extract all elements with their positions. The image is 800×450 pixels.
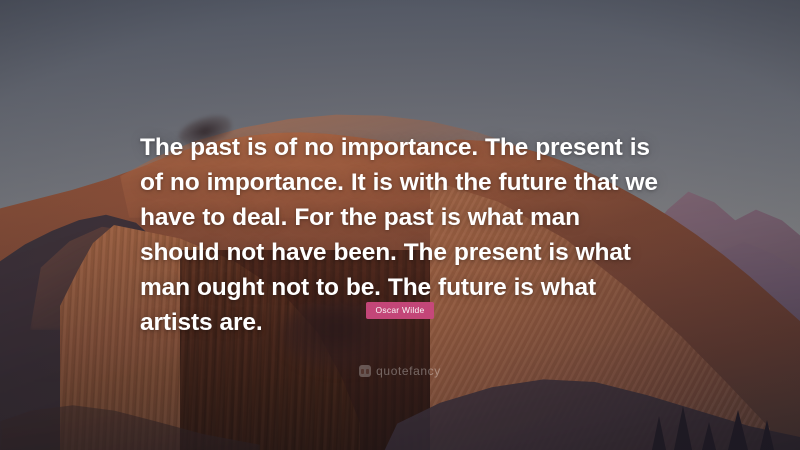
tree-icon [728,410,748,450]
watermark-brand-label: quotefancy [376,365,441,377]
tree-icon [760,420,774,450]
author-name-badge[interactable]: Oscar Wilde [366,302,433,319]
tree-icon [674,406,692,450]
tree-icon [702,422,716,450]
tree-icon [652,416,666,450]
quote-mark-icon [359,365,371,377]
quote-poster: The past is of no importance. The presen… [0,0,800,450]
author-badge-wrapper: Oscar Wilde [0,302,800,319]
tree-line [650,404,800,450]
watermark[interactable]: quotefancy [0,365,800,377]
